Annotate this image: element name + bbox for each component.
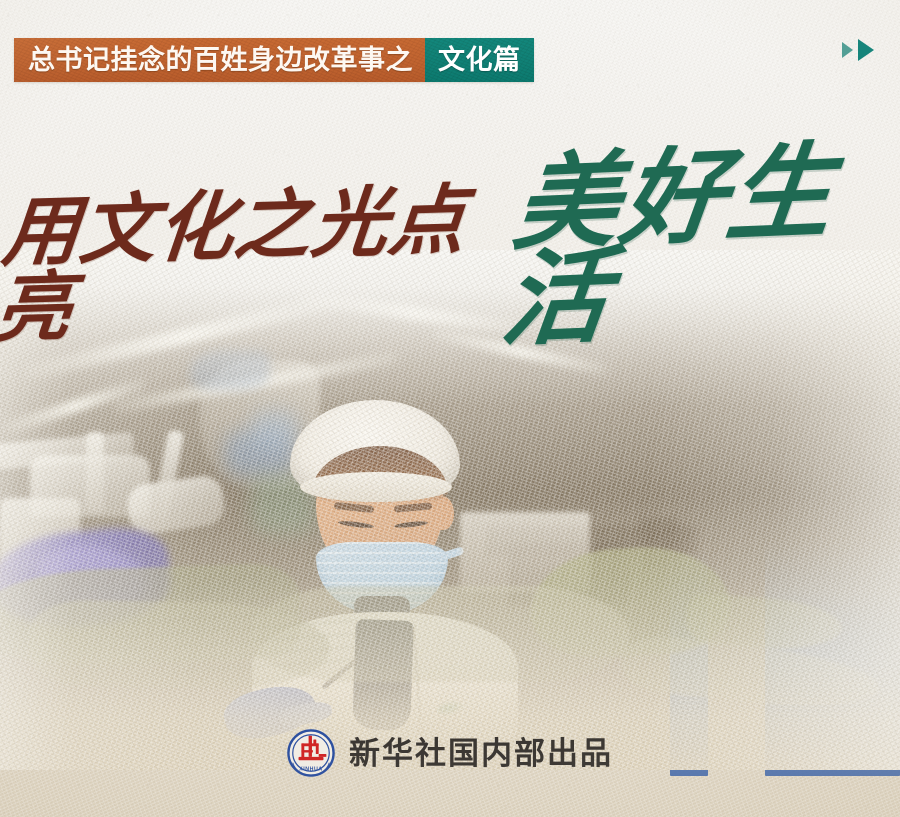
series-banner-sub[interactable]: 文化篇: [425, 38, 534, 82]
photo-paper-fibers: [0, 250, 900, 770]
publisher-credit: XINHUA 新华社国内部出品: [0, 729, 900, 777]
triangle-right-icon[interactable]: [858, 39, 874, 61]
xinhua-logo: XINHUA: [287, 729, 335, 777]
conservation-photo: [0, 250, 900, 770]
series-banner-main[interactable]: 总书记挂念的百姓身边改革事之: [14, 38, 425, 82]
poster-canvas: 总书记挂念的百姓身边改革事之 文化篇 用文化之光点亮 美好生活: [0, 0, 900, 817]
series-banner-sub-label: 文化篇: [438, 47, 521, 74]
xinhua-wordmark: XINHUA: [299, 766, 323, 772]
photo-scene: [0, 250, 900, 770]
forward-arrows[interactable]: [842, 38, 874, 62]
series-banner-main-label: 总书记挂念的百姓身边改革事之: [28, 47, 413, 74]
triangle-right-icon[interactable]: [842, 42, 853, 58]
series-banner[interactable]: 总书记挂念的百姓身边改革事之 文化篇: [14, 38, 534, 82]
publisher-credit-label: 新华社国内部出品: [349, 738, 613, 769]
